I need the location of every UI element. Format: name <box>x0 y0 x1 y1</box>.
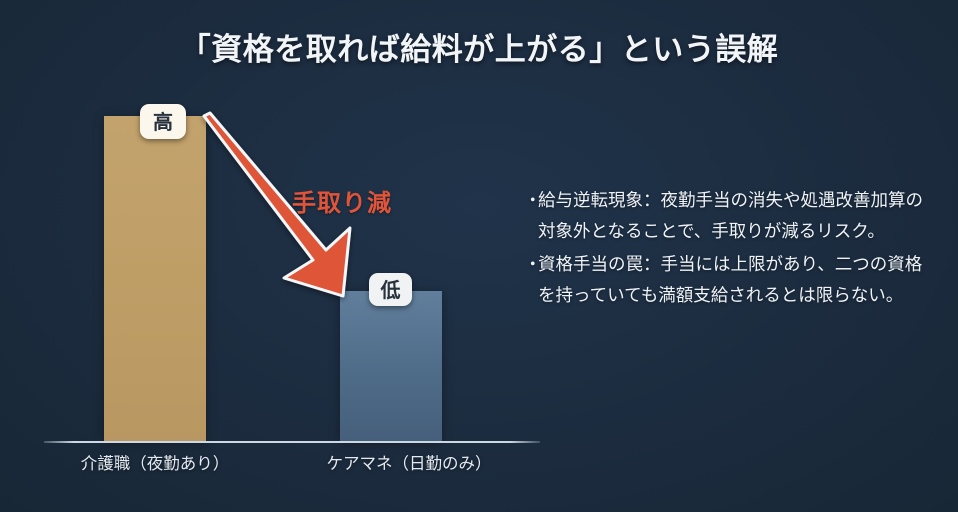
bullet-list: ・ 給与逆転現象：夜勤手当の消失や処遇改善加算の対象外となることで、手取りが減る… <box>522 186 934 314</box>
bullet-text: 給与逆転現象：夜勤手当の消失や処遇改善加算の対象外となることで、手取りが減るリス… <box>538 186 934 248</box>
bullet-marker-icon: ・ <box>524 186 542 217</box>
bar-chart: 高 低 介護職（夜勤あり） ケアマネ（日勤のみ） 手取り減 <box>0 0 520 512</box>
bullet-marker-icon: ・ <box>524 250 542 281</box>
x-axis-label-kaigoshoku: 介護職（夜勤あり） <box>44 450 266 474</box>
bullet-text: 資格手当の罠：手当には上限があり、二つの資格を持っていても満額支給されるとは限ら… <box>538 250 934 312</box>
slide-canvas: 「資格を取れば給料が上がる」という誤解 高 低 介護職（夜勤あり） ケアマネ（日… <box>0 0 958 512</box>
bar-kaigoshoku <box>104 116 206 441</box>
value-badge-low: 低 <box>369 273 412 306</box>
x-axis-label-caremane: ケアマネ（日勤のみ） <box>280 450 538 474</box>
arrow-annotation-label: 手取り減 <box>292 183 392 218</box>
list-item: ・ 資格手当の罠：手当には上限があり、二つの資格を持っていても満額支給されるとは… <box>522 250 934 312</box>
value-badge-high: 高 <box>140 104 186 139</box>
bar-caremane <box>340 291 442 441</box>
chart-baseline <box>44 441 540 443</box>
list-item: ・ 給与逆転現象：夜勤手当の消失や処遇改善加算の対象外となることで、手取りが減る… <box>522 186 934 248</box>
